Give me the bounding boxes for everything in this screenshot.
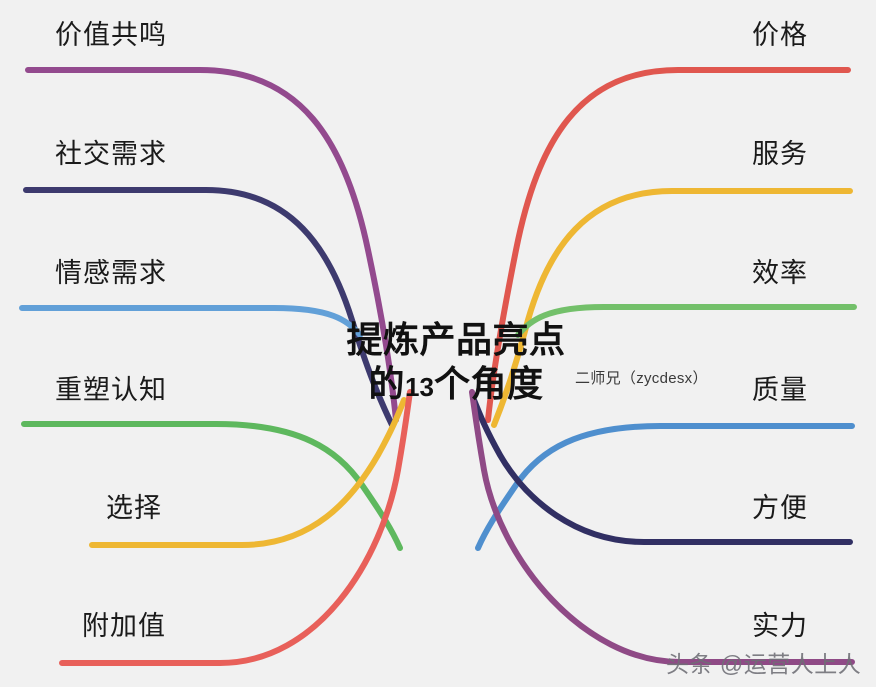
branch-label-right-0[interactable]: 价格 (752, 22, 808, 49)
branch-label-right-3[interactable]: 质量 (752, 377, 808, 404)
center-title: 提炼产品亮点 的13个角度 (322, 318, 590, 406)
attribution-text: 二师兄（zycdesx） (575, 367, 708, 388)
branch-label-left-5[interactable]: 附加值 (82, 613, 166, 640)
center-title-suffix: 个角度 (434, 363, 544, 404)
mindmap-canvas: 价值共鸣社交需求情感需求重塑认知选择附加值 价格服务效率质量方便实力 提炼产品亮… (0, 0, 876, 687)
branch-label-right-4[interactable]: 方便 (752, 495, 808, 522)
branch-label-left-1[interactable]: 社交需求 (55, 141, 167, 168)
branch-label-left-0[interactable]: 价值共鸣 (55, 22, 167, 49)
branch-curve-right-3 (478, 426, 852, 548)
center-title-line-2: 的13个角度 (322, 362, 590, 406)
branch-label-right-1[interactable]: 服务 (752, 141, 808, 168)
center-title-line-1: 提炼产品亮点 (322, 318, 590, 362)
branch-curve-left-4 (92, 400, 404, 545)
branch-label-right-2[interactable]: 效率 (752, 260, 808, 287)
center-title-prefix: 的 (369, 363, 406, 404)
branch-curve-left-3 (24, 424, 400, 548)
branch-label-left-2[interactable]: 情感需求 (55, 260, 167, 287)
branch-label-left-3[interactable]: 重塑认知 (55, 377, 167, 404)
center-title-number: 13 (405, 372, 434, 402)
branch-curve-left-2 (22, 308, 360, 335)
watermark-text: 头条 @运营人上人 (666, 645, 861, 679)
branch-label-left-4[interactable]: 选择 (106, 495, 162, 522)
branch-label-right-5[interactable]: 实力 (752, 613, 808, 640)
